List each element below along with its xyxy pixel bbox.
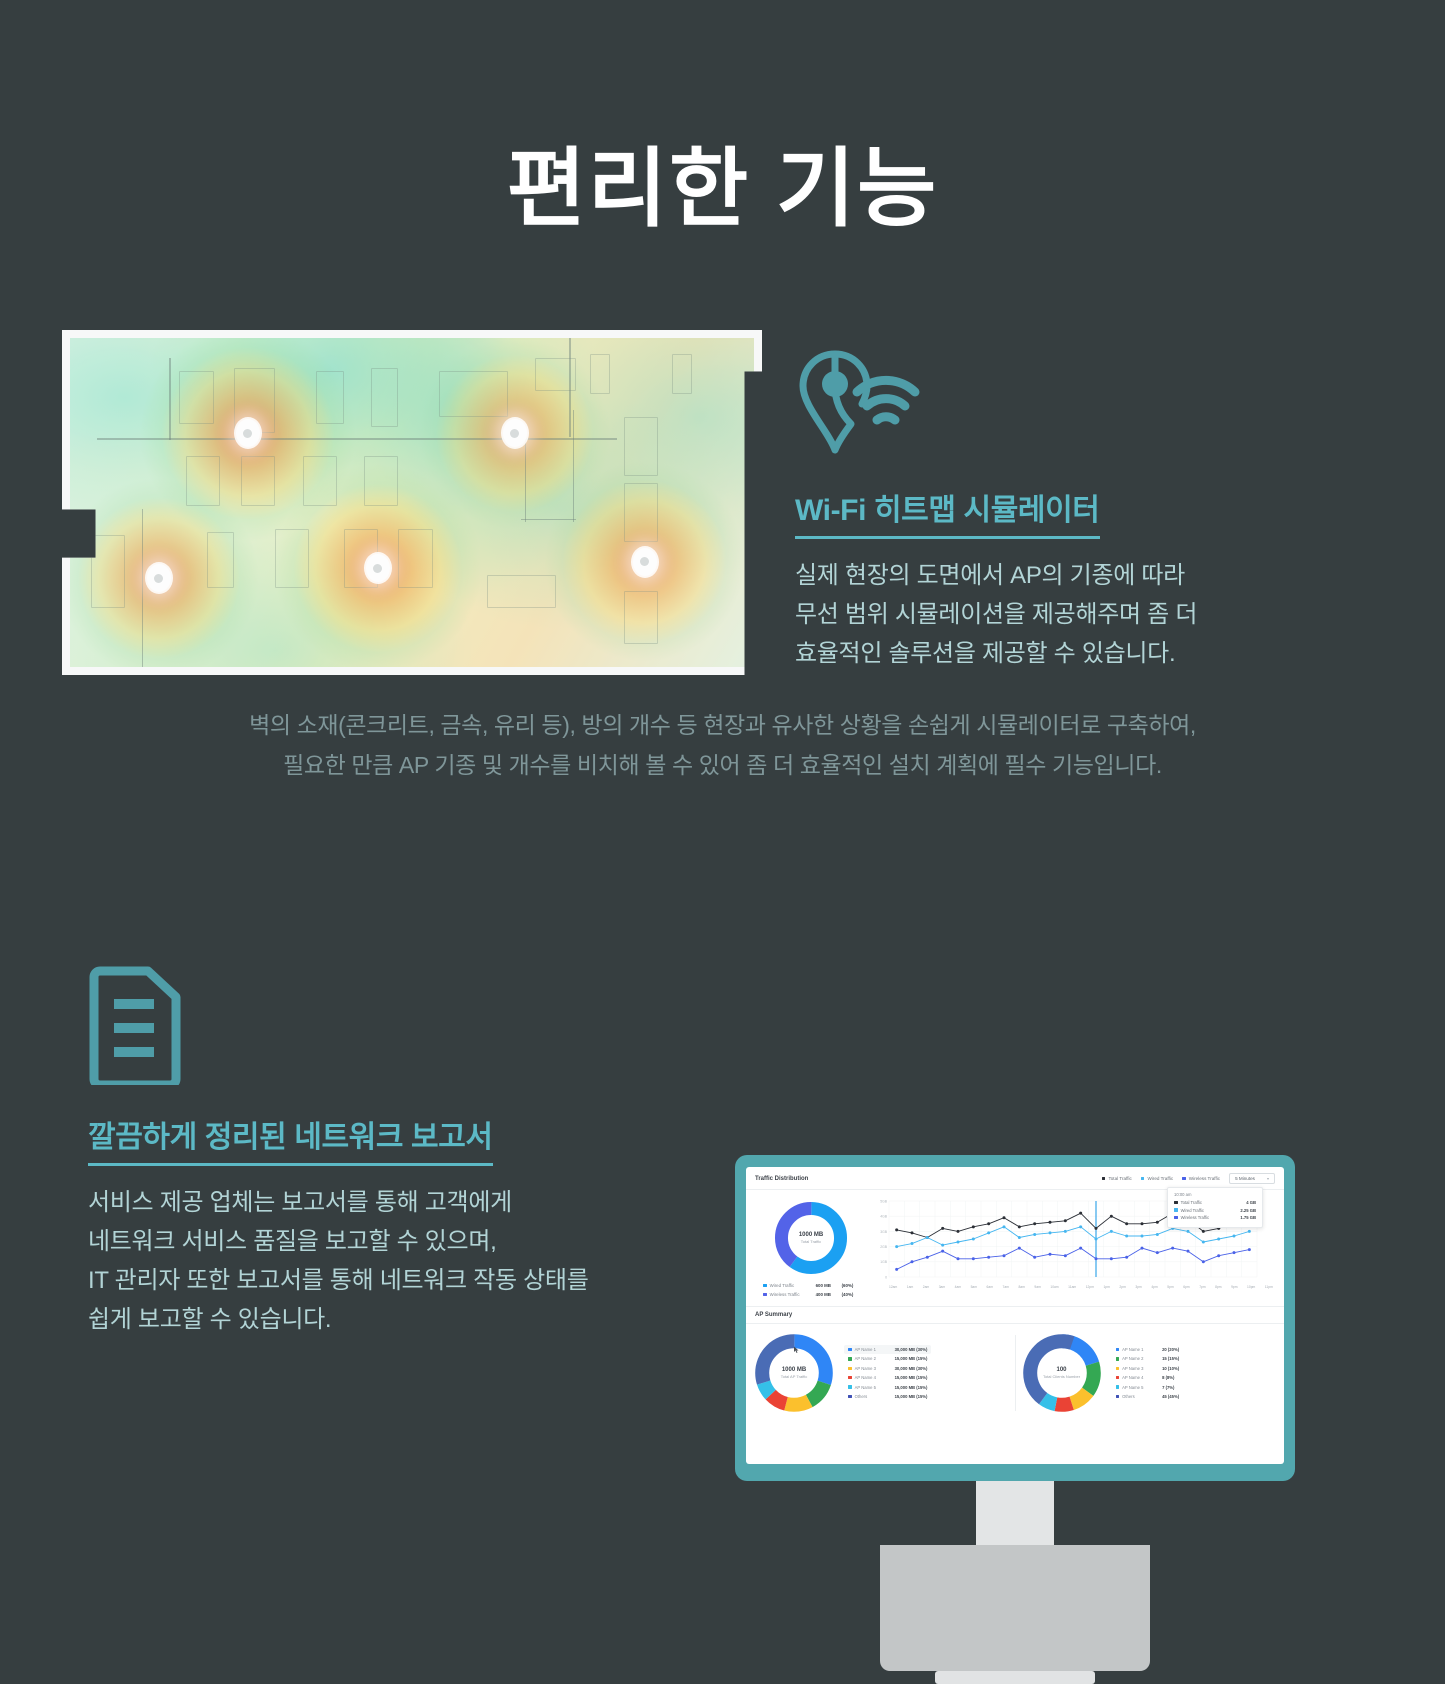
ap-legend-value: 15,000 MB (15%) <box>895 1375 928 1380</box>
donut-legend-value: 400 MB <box>816 1292 842 1297</box>
ap-legend-value: 30,000 MB (30%) <box>895 1366 928 1371</box>
svg-text:2GB: 2GB <box>880 1245 888 1249</box>
svg-text:5GB: 5GB <box>880 1199 888 1203</box>
ap-legend-row[interactable]: AP Name 2 15 (15%) <box>1112 1354 1184 1363</box>
ap-legend-value: 8 (8%) <box>1162 1375 1174 1380</box>
wall-vertical-mid <box>142 509 144 667</box>
ap-legend-value: 10 (10%) <box>1162 1366 1179 1371</box>
donut-legend-percent: (60%) <box>842 1283 854 1288</box>
feature-body-heatmap: 실제 현장의 도면에서 AP의 기종에 따라 무선 범위 시뮬레이션을 제공해주… <box>795 557 1295 674</box>
feature-heading-report: 깔끔하게 정리된 네트워크 보고서 <box>88 1112 493 1166</box>
ap-legend-row[interactable]: AP Name 1 20 (20%) <box>1112 1345 1184 1354</box>
ap-traffic-donut-value: 1000 MB <box>782 1367 806 1373</box>
tooltip-value: 2.25 GB <box>1240 1208 1256 1213</box>
ap-marker[interactable] <box>366 554 390 582</box>
furniture-cabinet <box>535 358 576 391</box>
traffic-line-chart[interactable]: 10:00 am Total Traffic 4 GB Wired Traffi… <box>867 1197 1275 1301</box>
feature-body-report: 서비스 제공 업체는 보고서를 통해 고객에게 네트워크 서비스 품질을 보고할… <box>88 1184 748 1340</box>
ap-legend-swatch <box>1116 1367 1120 1371</box>
caption-line-2: 필요한 만큼 AP 기종 및 개수를 비치해 볼 수 있어 좀 더 효율적인 설… <box>0 745 1445 785</box>
feature-heading-heatmap: Wi-Fi 히트맵 시뮬레이터 <box>795 485 1100 539</box>
x-axis-tick: 7am <box>1003 1285 1009 1289</box>
x-axis-tick: 2pm <box>1119 1285 1125 1289</box>
donut-legend-label: Wired Traffic <box>770 1283 816 1288</box>
legend-item-wired[interactable]: Wired Traffic <box>1141 1176 1173 1181</box>
monitor-foot <box>935 1671 1095 1684</box>
ap-marker[interactable] <box>633 548 657 576</box>
furniture-desk <box>364 456 398 505</box>
ap-traffic-legend: AP Name 1 30,000 MB (30%) AP Name 2 15,0… <box>836 1345 931 1401</box>
x-axis-tick: 1pm <box>1103 1285 1109 1289</box>
donut-legend-label: Wireless Traffic <box>770 1292 816 1297</box>
ap-legend-label: AP Name 2 <box>855 1356 895 1361</box>
x-axis-tick: 11pm <box>1265 1285 1273 1289</box>
x-axis-tick: 4pm <box>1151 1285 1157 1289</box>
x-axis-tick: 6pm <box>1183 1285 1189 1289</box>
svg-text:3GB: 3GB <box>880 1230 888 1234</box>
ap-summary-title: AP Summary <box>755 1312 1275 1318</box>
donut-legend-percent: (40%) <box>842 1292 854 1297</box>
x-axis-tick: 6am <box>987 1285 993 1289</box>
ap-clients-donut-value: 100 <box>1056 1367 1066 1373</box>
tooltip-row: Wireless Traffic 1.75 GB <box>1174 1215 1256 1220</box>
ap-legend-swatch <box>1116 1395 1120 1399</box>
ap-clients-donut-center: 100 Total Clients Number <box>1020 1331 1104 1415</box>
ap-legend-label: AP Name 3 <box>1122 1366 1162 1371</box>
ap-legend-row[interactable]: AP Name 5 15,000 MB (15%) <box>844 1382 931 1391</box>
ap-legend-row[interactable]: AP Name 3 30,000 MB (30%) <box>844 1364 931 1373</box>
donut-legend-value: 600 MB <box>816 1283 842 1288</box>
ap-traffic-block: 1000 MB Total AP Traffic AP Name 1 30,00… <box>752 1331 1011 1415</box>
ap-traffic-donut-label: Total AP Traffic <box>781 1374 808 1379</box>
feature-body-line: 무선 범위 시뮬레이션을 제공해주며 좀 더 <box>795 596 1295 635</box>
ap-clients-block: 100 Total Clients Number AP Name 1 20 (2… <box>1020 1331 1279 1415</box>
feature-wifi-heatmap: Wi-Fi 히트맵 시뮬레이터 실제 현장의 도면에서 AP의 기종에 따라 무… <box>795 348 1295 674</box>
x-axis-tick: 12am <box>889 1285 897 1289</box>
furniture-desk <box>241 456 275 505</box>
ap-legend-label: AP Name 4 <box>855 1375 895 1380</box>
document-report-icon <box>88 965 748 1090</box>
monitor-neck <box>976 1481 1054 1545</box>
desktop-monitor: Traffic Distribution Total Traffic Wired… <box>735 1155 1295 1684</box>
traffic-donut-center: 1000 MB Total Traffic <box>772 1199 850 1277</box>
chevron-down-icon: ▾ <box>1267 1176 1269 1181</box>
x-axis-tick: 3am <box>939 1285 945 1289</box>
ap-legend-value: 20 (20%) <box>1162 1347 1179 1352</box>
tooltip-row: Total Traffic 4 GB <box>1174 1200 1256 1205</box>
wall-vertical-right2 <box>525 437 527 523</box>
ap-legend-value: 15,000 MB (15%) <box>895 1394 928 1399</box>
ap-traffic-donut-center: 1000 MB Total AP Traffic <box>752 1331 836 1415</box>
ap-legend-swatch <box>848 1385 852 1389</box>
traffic-donut-value: 1000 MB <box>799 1232 823 1238</box>
ap-legend-swatch <box>1116 1357 1120 1361</box>
ap-legend-row[interactable]: AP Name 4 15,000 MB (15%) <box>844 1373 931 1382</box>
furniture-desk <box>303 456 337 505</box>
ap-legend-swatch <box>848 1376 852 1380</box>
x-axis-tick: 4am <box>955 1285 961 1289</box>
ap-legend-swatch <box>1116 1376 1120 1380</box>
heatmap-caption: 벽의 소재(콘크리트, 금속, 유리 등), 방의 개수 등 현장과 유사한 상… <box>0 705 1445 786</box>
furniture-desk <box>624 417 658 476</box>
feature-body-line: 네트워크 서비스 품질을 보고할 수 있으며, <box>88 1223 748 1262</box>
feature-network-report: 깔끔하게 정리된 네트워크 보고서 서비스 제공 업체는 보고서를 통해 고객에… <box>88 965 748 1340</box>
ap-legend-label: AP Name 4 <box>1122 1375 1162 1380</box>
ap-legend-row[interactable]: AP Name 2 15,000 MB (15%) <box>844 1354 931 1363</box>
furniture-room <box>487 575 555 608</box>
ap-legend-swatch <box>1116 1348 1120 1352</box>
legend-swatch-wireless <box>1182 1177 1186 1181</box>
x-axis-tick: 1am <box>907 1285 913 1289</box>
wifi-location-pin-icon <box>795 348 1295 463</box>
ap-legend-swatch <box>848 1367 852 1371</box>
wifi-heatmap-floorplan <box>62 330 762 675</box>
interval-select-value: 5 Minutes <box>1235 1176 1255 1181</box>
ap-marker[interactable] <box>147 564 171 592</box>
tooltip-label: Wireless Traffic <box>1181 1215 1241 1220</box>
donut-swatch-wireless <box>763 1293 767 1297</box>
chart-tooltip: 10:00 am Total Traffic 4 GB Wired Traffi… <box>1167 1187 1263 1228</box>
ap-legend-label: AP Name 2 <box>1122 1356 1162 1361</box>
ap-legend-value: 15 (15%) <box>1162 1356 1179 1361</box>
traffic-legend: Total Traffic Wired Traffic Wireless Tra… <box>1102 1173 1275 1184</box>
traffic-donut-legend: Wired Traffic 600 MB (60%) Wireless Traf… <box>755 1283 867 1297</box>
wall-horizontal-top <box>97 438 617 440</box>
x-axis-tick: 8am <box>1018 1285 1024 1289</box>
ap-legend-swatch <box>848 1395 852 1399</box>
feature-body-line: IT 관리자 또한 보고서를 통해 네트워크 작동 상태를 <box>88 1262 748 1301</box>
x-axis-tick: 5pm <box>1167 1285 1173 1289</box>
ap-clients-legend: AP Name 1 20 (20%) AP Name 2 15 (15%) AP… <box>1104 1345 1184 1401</box>
x-axis-tick: 12pm <box>1086 1285 1094 1289</box>
legend-swatch-total <box>1102 1177 1106 1181</box>
ap-clients-donut-label: Total Clients Number <box>1043 1374 1080 1379</box>
x-axis-tick: 8pm <box>1215 1285 1221 1289</box>
legend-label-wireless: Wireless Traffic <box>1189 1176 1220 1181</box>
ap-legend-label: Others <box>855 1394 895 1399</box>
ap-legend-row[interactable]: Others 45 (45%) <box>1112 1392 1184 1401</box>
svg-text:0: 0 <box>885 1275 887 1279</box>
ap-legend-value: 7 (7%) <box>1162 1385 1174 1390</box>
interval-select[interactable]: 5 Minutes ▾ <box>1229 1173 1275 1184</box>
x-axis-labels: 12am1am2am3am4am5am6am7am8am9am10am11am1… <box>871 1283 1275 1289</box>
furniture-desk <box>179 371 213 424</box>
ap-legend-swatch <box>848 1357 852 1361</box>
legend-label-total: Total Traffic <box>1108 1176 1131 1181</box>
svg-text:4GB: 4GB <box>880 1215 888 1219</box>
furniture-shelf <box>672 354 693 393</box>
tooltip-value: 1.75 GB <box>1240 1215 1256 1220</box>
traffic-panel-body: 1000 MB Total Traffic Wired Traffic 600 … <box>746 1190 1284 1306</box>
wall-horizontal-mid <box>521 519 576 521</box>
feature-body-line: 효율적인 솔루션을 제공할 수 있습니다. <box>795 635 1295 674</box>
x-axis-tick: 2am <box>923 1285 929 1289</box>
legend-item-wireless[interactable]: Wireless Traffic <box>1182 1176 1220 1181</box>
furniture-desk <box>91 535 125 607</box>
furniture-desk <box>275 529 309 588</box>
furniture-desk <box>624 591 658 644</box>
ap-legend-label: AP Name 1 <box>1122 1347 1162 1352</box>
furniture-desk <box>371 368 398 427</box>
wall-vertical-left <box>169 358 171 440</box>
furniture-table <box>439 371 507 417</box>
ap-legend-value: 30,000 MB (30%) <box>895 1347 928 1352</box>
furniture-desk <box>316 371 343 424</box>
donut-legend-row[interactable]: Wired Traffic 600 MB (60%) <box>763 1283 867 1288</box>
tooltip-value: 4 GB <box>1246 1200 1256 1205</box>
tooltip-label: Wired Traffic <box>1181 1208 1241 1213</box>
ap-legend-value: 15,000 MB (15%) <box>895 1385 928 1390</box>
ap-marker[interactable] <box>236 419 260 447</box>
traffic-panel-title: Traffic Distribution <box>755 1176 808 1182</box>
x-axis-tick: 10am <box>1050 1285 1058 1289</box>
ap-legend-value: 45 (45%) <box>1162 1394 1179 1399</box>
traffic-donut-label: Total Traffic <box>801 1239 821 1244</box>
feature-body-line: 서비스 제공 업체는 보고서를 통해 고객에게 <box>88 1184 748 1223</box>
ap-legend-label: AP Name 3 <box>855 1366 895 1371</box>
x-axis-tick: 7pm <box>1199 1285 1205 1289</box>
legend-label-wired: Wired Traffic <box>1147 1176 1173 1181</box>
donut-legend-row[interactable]: Wireless Traffic 400 MB (40%) <box>763 1292 867 1297</box>
furniture-desk <box>624 483 658 542</box>
ap-legend-swatch <box>848 1348 852 1352</box>
tooltip-swatch-wireless <box>1174 1216 1178 1220</box>
furniture-shelf <box>590 354 611 393</box>
caption-line-1: 벽의 소재(콘크리트, 금속, 유리 등), 방의 개수 등 현장과 유사한 상… <box>0 705 1445 745</box>
ap-legend-label: Others <box>1122 1394 1162 1399</box>
ap-legend-row[interactable]: AP Name 4 8 (8%) <box>1112 1373 1184 1382</box>
legend-item-total[interactable]: Total Traffic <box>1102 1176 1132 1181</box>
tooltip-time: 10:00 am <box>1174 1192 1256 1197</box>
ap-legend-label: AP Name 1 <box>855 1347 895 1352</box>
x-axis-tick: 10pm <box>1247 1285 1255 1289</box>
x-axis-tick: 3pm <box>1135 1285 1141 1289</box>
x-axis-tick: 5am <box>971 1285 977 1289</box>
ap-summary-header: AP Summary <box>746 1306 1284 1324</box>
furniture-desk <box>207 532 234 588</box>
dashboard-screen[interactable]: Traffic Distribution Total Traffic Wired… <box>746 1167 1284 1464</box>
ap-marker[interactable] <box>503 419 527 447</box>
ap-legend-value: 15,000 MB (15%) <box>895 1356 928 1361</box>
floorplan-canvas <box>62 330 762 675</box>
ap-legend-row[interactable]: AP Name 5 7 (7%) <box>1112 1382 1184 1391</box>
ap-legend-row[interactable]: AP Name 1 30,000 MB (30%) <box>844 1345 931 1354</box>
monitor-base <box>880 1545 1150 1671</box>
x-axis-tick: 9am <box>1034 1285 1040 1289</box>
tooltip-row: Wired Traffic 2.25 GB <box>1174 1208 1256 1213</box>
donut-swatch-wired <box>763 1284 767 1288</box>
feature-body-line: 쉽게 보고할 수 있습니다. <box>88 1301 748 1340</box>
page-title: 편리한 기능 <box>0 140 1445 239</box>
furniture-desk <box>186 456 220 505</box>
ap-legend-row[interactable]: AP Name 3 10 (10%) <box>1112 1364 1184 1373</box>
tooltip-swatch-total <box>1174 1201 1178 1205</box>
ap-summary-divider <box>1015 1335 1016 1411</box>
x-axis-tick: 11am <box>1068 1285 1076 1289</box>
tooltip-swatch-wired <box>1174 1208 1178 1212</box>
ap-summary-body: 1000 MB Total AP Traffic AP Name 1 30,00… <box>746 1324 1284 1421</box>
mouse-cursor-icon <box>794 1346 799 1354</box>
ap-legend-swatch <box>1116 1385 1120 1389</box>
ap-legend-label: AP Name 5 <box>855 1385 895 1390</box>
legend-swatch-wired <box>1141 1177 1145 1181</box>
x-axis-tick: 9pm <box>1231 1285 1237 1289</box>
monitor-bezel: Traffic Distribution Total Traffic Wired… <box>735 1155 1295 1481</box>
wall-vertical-right3 <box>573 410 575 522</box>
ap-legend-row[interactable]: Others 15,000 MB (15%) <box>844 1392 931 1401</box>
tooltip-label: Total Traffic <box>1181 1200 1247 1205</box>
svg-text:1GB: 1GB <box>880 1260 888 1264</box>
ap-legend-label: AP Name 5 <box>1122 1385 1162 1390</box>
traffic-donut-column: 1000 MB Total Traffic Wired Traffic 600 … <box>755 1197 867 1301</box>
feature-body-line: 실제 현장의 도면에서 AP의 기종에 따라 <box>795 557 1295 596</box>
furniture-desk <box>398 529 432 588</box>
